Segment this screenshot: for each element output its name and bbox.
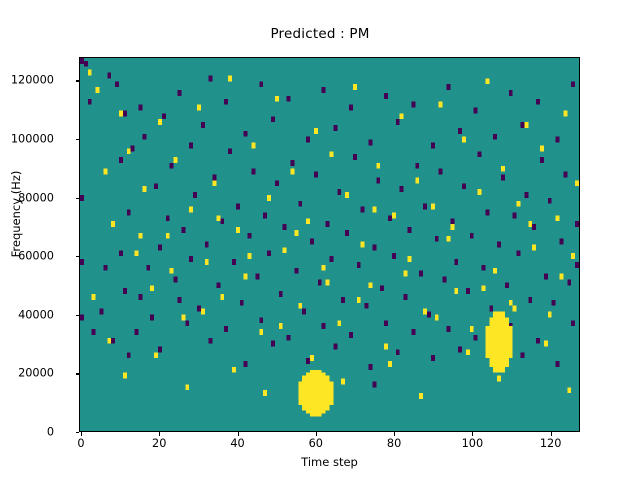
- y-axis-tick-label: 80000: [0, 191, 54, 204]
- y-axis-tick-mark: [76, 432, 80, 433]
- x-axis-tick-label: 120: [511, 437, 591, 450]
- x-axis-tick-mark: [159, 432, 160, 436]
- x-axis-tick-mark: [472, 432, 473, 436]
- matplotlib-figure: Predicted : PM Frequency (Hz) Time step …: [0, 0, 640, 480]
- x-axis-tick-mark: [81, 432, 82, 436]
- x-axis-tick-label: 80: [354, 437, 434, 450]
- y-axis-tick-label: 120000: [0, 74, 54, 87]
- x-axis-tick-mark: [551, 432, 552, 436]
- x-axis-tick-mark: [394, 432, 395, 436]
- x-axis-tick-label: 100: [432, 437, 512, 450]
- plot-area: [79, 57, 580, 432]
- x-axis-tick-label: 20: [119, 437, 199, 450]
- x-axis-label: Time step: [79, 455, 580, 469]
- x-axis-tick-label: 60: [276, 437, 356, 450]
- x-axis-tick-mark: [316, 432, 317, 436]
- x-axis-tick-label: 0: [41, 437, 121, 450]
- x-axis-tick-label: 40: [198, 437, 278, 450]
- y-axis-tick-label: 100000: [0, 133, 54, 146]
- y-axis-tick-label: 20000: [0, 367, 54, 380]
- heatmap-image: [80, 58, 579, 431]
- x-axis-tick-mark: [238, 432, 239, 436]
- y-axis-tick-label: 40000: [0, 308, 54, 321]
- y-axis-tick-label: 60000: [0, 250, 54, 263]
- page-title: Predicted : PM: [0, 26, 640, 42]
- y-axis-label: Frequency (Hz): [9, 44, 23, 384]
